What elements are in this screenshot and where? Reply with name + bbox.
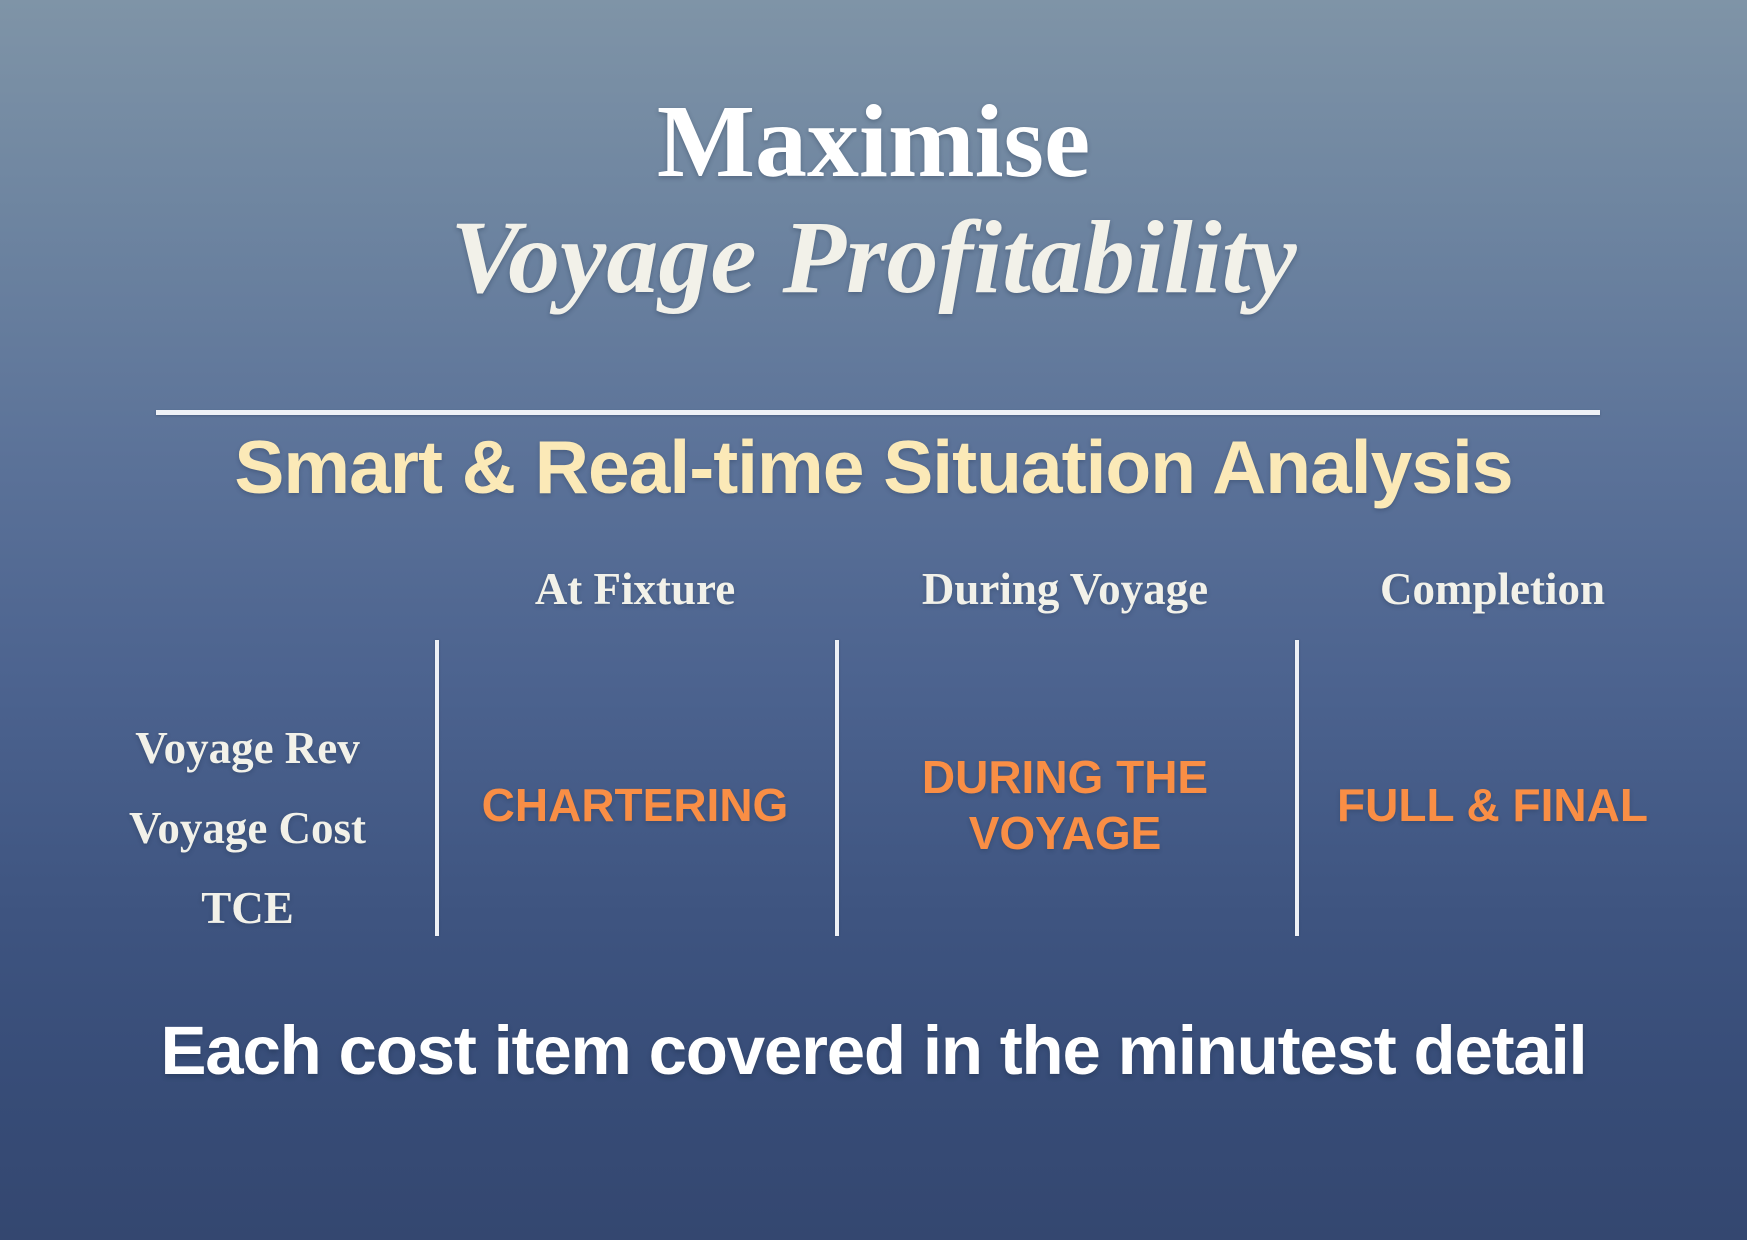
title-block: Maximise Voyage Profitability xyxy=(0,86,1747,320)
column-header-at-fixture: At Fixture xyxy=(435,540,835,616)
phase-label-full-and-final: FULL & FINAL xyxy=(1327,777,1658,833)
metrics-cell: Voyage Rev Voyage Cost TCE xyxy=(60,640,435,970)
section-headline: Smart & Real-time Situation Analysis xyxy=(0,425,1747,509)
column-header-during-voyage: During Voyage xyxy=(835,540,1295,616)
matrix-body-row: Voyage Rev Voyage Cost TCE CHARTERING DU… xyxy=(60,640,1690,970)
phase-cell-during-voyage: DURING THE VOYAGE xyxy=(835,640,1295,970)
phase-matrix: At Fixture During Voyage Completion Voya… xyxy=(60,540,1690,970)
title-line-secondary: Voyage Profitability xyxy=(0,197,1747,320)
title-line-primary: Maximise xyxy=(0,86,1747,197)
column-header-completion: Completion xyxy=(1295,540,1690,616)
phase-label-chartering: CHARTERING xyxy=(472,777,799,833)
phase-label-during-the-voyage: DURING THE VOYAGE xyxy=(835,749,1295,861)
slide-root: Maximise Voyage Profitability Smart & Re… xyxy=(0,0,1747,1240)
footer-statement: Each cost item covered in the minutest d… xyxy=(0,1012,1747,1089)
column-header-metrics xyxy=(60,540,435,562)
matrix-header-row: At Fixture During Voyage Completion xyxy=(60,540,1690,640)
phase-cell-completion: FULL & FINAL xyxy=(1295,640,1690,970)
metrics-list: Voyage Rev Voyage Cost TCE xyxy=(129,640,366,970)
title-divider-rule xyxy=(156,410,1600,415)
metric-voyage-cost: Voyage Cost xyxy=(129,788,366,868)
metric-voyage-rev: Voyage Rev xyxy=(129,708,366,788)
phase-cell-at-fixture: CHARTERING xyxy=(435,640,835,970)
metric-tce: TCE xyxy=(129,868,366,948)
